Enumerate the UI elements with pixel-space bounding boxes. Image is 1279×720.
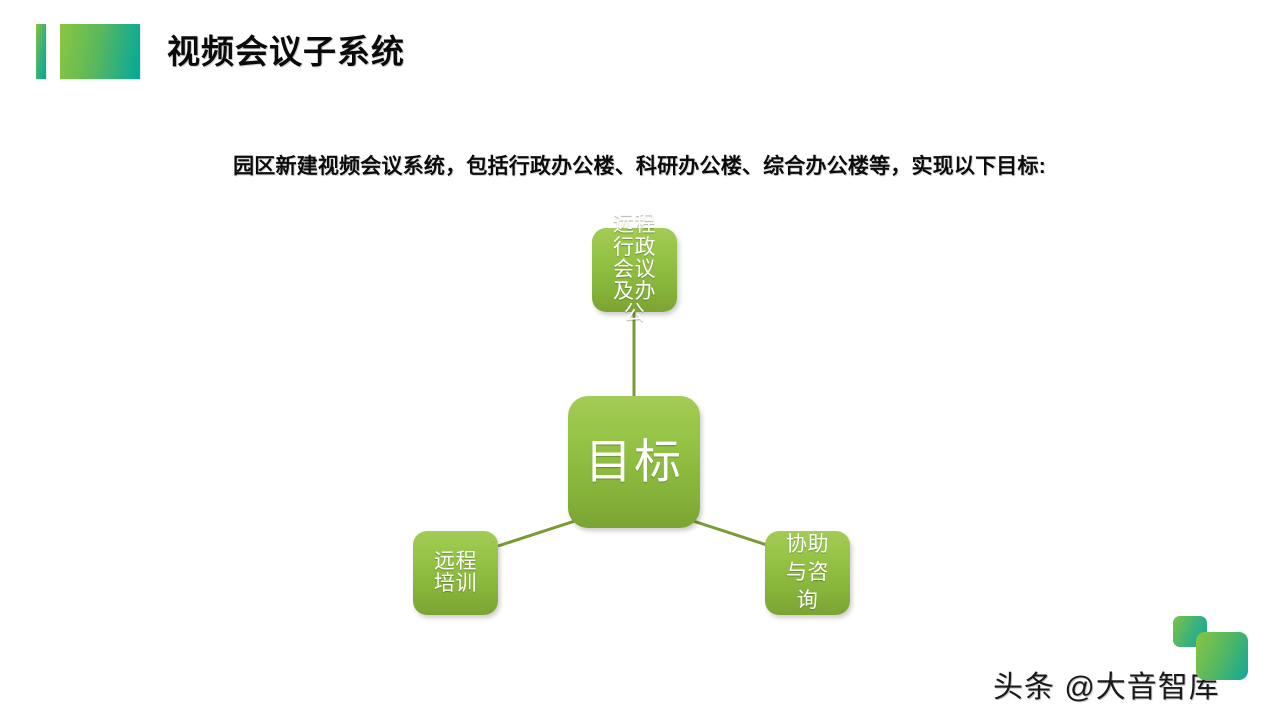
watermark-logo-icon-secondary (1196, 632, 1248, 680)
watermark-text: 头条 @大音智库 (993, 662, 1220, 706)
header-accent-bar-thin (36, 24, 46, 79)
diagram-node-label: 远程培训 (424, 551, 488, 596)
diagram-node-remote-training[interactable]: 远程培训 (413, 531, 498, 615)
diagram-node-assist-consult[interactable]: 协助与咨询 (765, 531, 850, 615)
slide-subtitle: 园区新建视频会议系统，包括行政办公楼、科研办公楼、综合办公楼等，实现以下目标: (0, 150, 1279, 180)
diagram-node-remote-admin-meeting[interactable]: 远程行政会议及办公 (592, 228, 677, 312)
diagram-node-center-goal[interactable]: 目标 (568, 396, 700, 528)
slide-canvas: 视频会议子系统 园区新建视频会议系统，包括行政办公楼、科研办公楼、综合办公楼等，… (0, 0, 1279, 720)
connector-center-to-bottom-left (498, 520, 578, 546)
diagram-node-label: 目标 (585, 437, 683, 487)
diagram-node-label: 远程行政会议及办公 (603, 214, 667, 325)
diagram-node-label: 协助与咨询 (776, 531, 840, 614)
radial-diagram: 远程行政会议及办公 目标 远程培训 协助与咨询 (0, 190, 1279, 650)
connector-center-to-bottom-right (690, 520, 770, 546)
header-accent-bar-wide (60, 24, 140, 79)
page-title: 视频会议子系统 (167, 24, 405, 79)
